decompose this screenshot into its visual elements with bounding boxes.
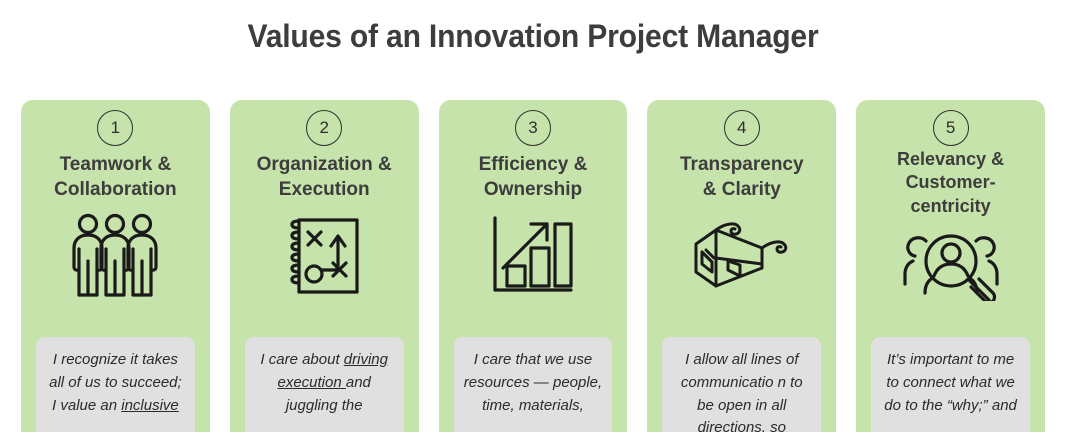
card-number-badge-3: 3 xyxy=(515,110,551,146)
quote-text-2: I care about driving execution and juggl… xyxy=(255,349,394,417)
page-title: Values of an Innovation Project Manager xyxy=(32,18,1034,55)
customer-search-icon xyxy=(900,220,1002,304)
quote-box-2: I care about driving execution and juggl… xyxy=(245,337,404,432)
value-card-3[interactable]: 3 Efficiency & Ownership I care that we … xyxy=(439,100,628,432)
value-card-5[interactable]: 5 Relevancy & Customer- centricity xyxy=(856,100,1045,432)
three-people-icon xyxy=(65,210,165,302)
card-heading-5: Relevancy & Customer- centricity xyxy=(891,148,1010,218)
card-number-badge-1: 1 xyxy=(97,110,133,146)
3d-glasses-icon xyxy=(686,210,798,302)
card-heading-2: Organization & Execution xyxy=(251,152,398,202)
bar-chart-growth-icon xyxy=(489,210,577,302)
quote-box-4: I allow all lines of communicatio n to b… xyxy=(662,337,821,432)
card-heading-4: Transparency & Clarity xyxy=(674,152,810,202)
card-heading-1: Teamwork & Collaboration xyxy=(48,152,182,202)
values-card-row: 1 Teamwork & Collaboration xyxy=(21,100,1045,432)
card-number-badge-5: 5 xyxy=(933,110,969,146)
value-card-1[interactable]: 1 Teamwork & Collaboration xyxy=(21,100,210,432)
quote-box-3: I care that we use resources — people, t… xyxy=(454,337,613,432)
quote-box-5: It’s important to me to connect what we … xyxy=(871,337,1030,432)
quote-box-1: I recognize it takes all of us to succee… xyxy=(36,337,195,432)
quote-text-1: I recognize it takes all of us to succee… xyxy=(46,349,185,417)
quote-text-4: I allow all lines of communicatio n to b… xyxy=(672,349,811,432)
value-card-4[interactable]: 4 Transparency & Clarity I allow all lin… xyxy=(647,100,836,432)
card-number-badge-2: 2 xyxy=(306,110,342,146)
quote-text-5: It’s important to me to connect what we … xyxy=(881,349,1020,417)
slide-canvas: Values of an Innovation Project Manager … xyxy=(0,0,1066,432)
strategy-notepad-icon xyxy=(281,210,367,302)
card-number-badge-4: 4 xyxy=(724,110,760,146)
value-card-2[interactable]: 2 Organization & Execution xyxy=(230,100,419,432)
card-heading-3: Efficiency & Ownership xyxy=(473,152,594,202)
quote-text-3: I care that we use resources — people, t… xyxy=(464,349,603,417)
